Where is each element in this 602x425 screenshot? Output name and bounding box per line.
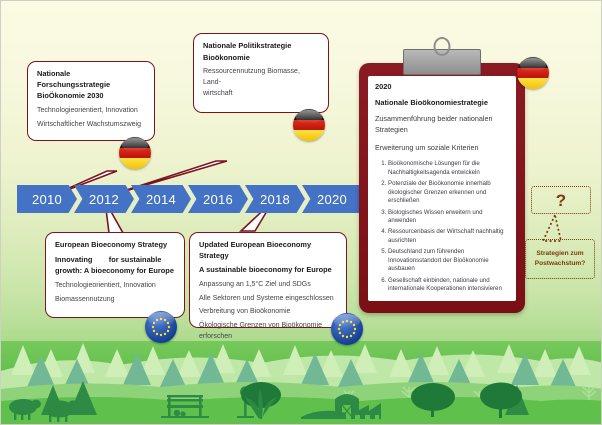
callout-point: erforschen bbox=[199, 332, 337, 343]
callout-title-line1: Updated European Bioeconomy Strategy bbox=[199, 240, 337, 261]
clipboard-paragraph: Erweiterung um soziale Kriterien bbox=[375, 143, 509, 154]
callout-title-line2: Bioökonomie bbox=[203, 53, 319, 64]
clipboard-title: Nationale Bioökonomiestrategie bbox=[375, 98, 509, 107]
callout-title-line1: European Bioeconomy Strategy bbox=[55, 240, 175, 251]
clipboard-year: 2020 bbox=[375, 82, 509, 91]
germany-flag-icon bbox=[517, 57, 549, 89]
germany-flag-icon bbox=[119, 137, 151, 169]
callout-nationale-politikstrategie[interactable]: Nationale Politikstrategie Bioökonomie R… bbox=[193, 33, 329, 113]
postgrowth-label-line2: Postwachstum? bbox=[535, 260, 586, 267]
timeline-year-2012[interactable]: 2012 bbox=[74, 185, 134, 213]
callout-nationale-forschungsstrategie[interactable]: Nationale Forschungsstrategie BioÖkonomi… bbox=[27, 61, 155, 141]
postgrowth-label-line1: Strategien zum bbox=[536, 250, 583, 257]
callout-title-line1: Nationale Forschungsstrategie bbox=[37, 69, 145, 90]
nationale-biooekonomiestrategie-clipboard[interactable]: 2020 Nationale Bioökonomiestrategie Zusa… bbox=[359, 63, 525, 313]
clipboard-goal-item: Deutschland zum führenden Innovationssta… bbox=[388, 248, 509, 274]
callout-title-line2: BioÖkonomie 2030 bbox=[37, 91, 145, 102]
callout-point: Technologieorientiert, Innovation bbox=[37, 106, 145, 117]
postgrowth-label-bubble[interactable]: Strategien zum Postwachstum? bbox=[525, 239, 595, 279]
postgrowth-question-bubble[interactable]: ? bbox=[531, 186, 591, 214]
timeline-year-2014[interactable]: 2014 bbox=[131, 185, 191, 213]
timeline-year-2020[interactable]: 2020 bbox=[302, 185, 362, 213]
callout-point: Alle Sektoren und Systeme eingeschlossen bbox=[199, 294, 337, 305]
eu-flag-icon bbox=[331, 313, 363, 345]
timeline-year-2010[interactable]: 2010 bbox=[17, 185, 77, 213]
infographic-canvas: Nationale Forschungsstrategie BioÖkonomi… bbox=[0, 0, 602, 425]
callout-point: Anpassung an 1,5°C Ziel und SDGs bbox=[199, 280, 337, 291]
callout-point: Ressourcennutzung Biomasse, Land- bbox=[203, 67, 319, 88]
timeline-bar: 2010 2012 2014 2016 2018 2020 bbox=[17, 185, 359, 213]
clipboard-goal-item: Potenziale der Bioökonomie innerhalb öko… bbox=[388, 180, 509, 206]
clipboard-goal-item: Gesellschaft einbinden, nationale und in… bbox=[388, 277, 509, 294]
callout-subtitle-line1: A sustainable bioeconomy for Europe bbox=[199, 265, 337, 276]
callout-subtitle-line1: Innovating for sustainable bbox=[55, 255, 175, 266]
question-mark-icon: ? bbox=[556, 192, 566, 209]
callout-european-bioeconomy-strategy[interactable]: European Bioeconomy Strategy Innovating … bbox=[45, 232, 185, 318]
clipboard-goal-item: Bioökonomische Lösungen für die Nachhalt… bbox=[388, 160, 509, 177]
callout-updated-european-bioeconomy-strategy[interactable]: Updated European Bioeconomy Strategy A s… bbox=[189, 232, 347, 328]
callout-title-line1: Nationale Politikstrategie bbox=[203, 41, 319, 52]
clipboard-goal-item: Ressourcenbasis der Wirtschaft nachhalti… bbox=[388, 228, 509, 245]
callout-point: Wirtschaftlicher Wachstumszweig bbox=[37, 120, 145, 131]
eu-flag-icon bbox=[145, 311, 177, 343]
clipboard-goal-list: Bioökonomische Lösungen für die Nachhalt… bbox=[375, 160, 509, 293]
callout-point: Technologieorientiert, Innovation bbox=[55, 281, 175, 292]
callout-subtitle-line2: growth: A bioeconomy for Europe bbox=[55, 266, 175, 277]
clipboard-ring-icon bbox=[434, 37, 451, 56]
callout-point: Verbreitung von Bioökonomie bbox=[199, 307, 337, 318]
timeline-year-2016[interactable]: 2016 bbox=[188, 185, 248, 213]
clipboard-goal-item: Biologisches Wissen erweitern und anwend… bbox=[388, 209, 509, 226]
clipboard-paper: 2020 Nationale Bioökonomiestrategie Zusa… bbox=[368, 76, 516, 301]
timeline-year-2018[interactable]: 2018 bbox=[245, 185, 305, 213]
callout-point: Ökologische Grenzen von Bioökonomie bbox=[199, 321, 337, 332]
callout-point: Biomassennutzung bbox=[55, 295, 175, 306]
clipboard-paragraph: Zusammenführung beider nationalen Strate… bbox=[375, 114, 509, 136]
callout-point: wirtschaft bbox=[203, 89, 319, 100]
germany-flag-icon bbox=[293, 109, 325, 141]
